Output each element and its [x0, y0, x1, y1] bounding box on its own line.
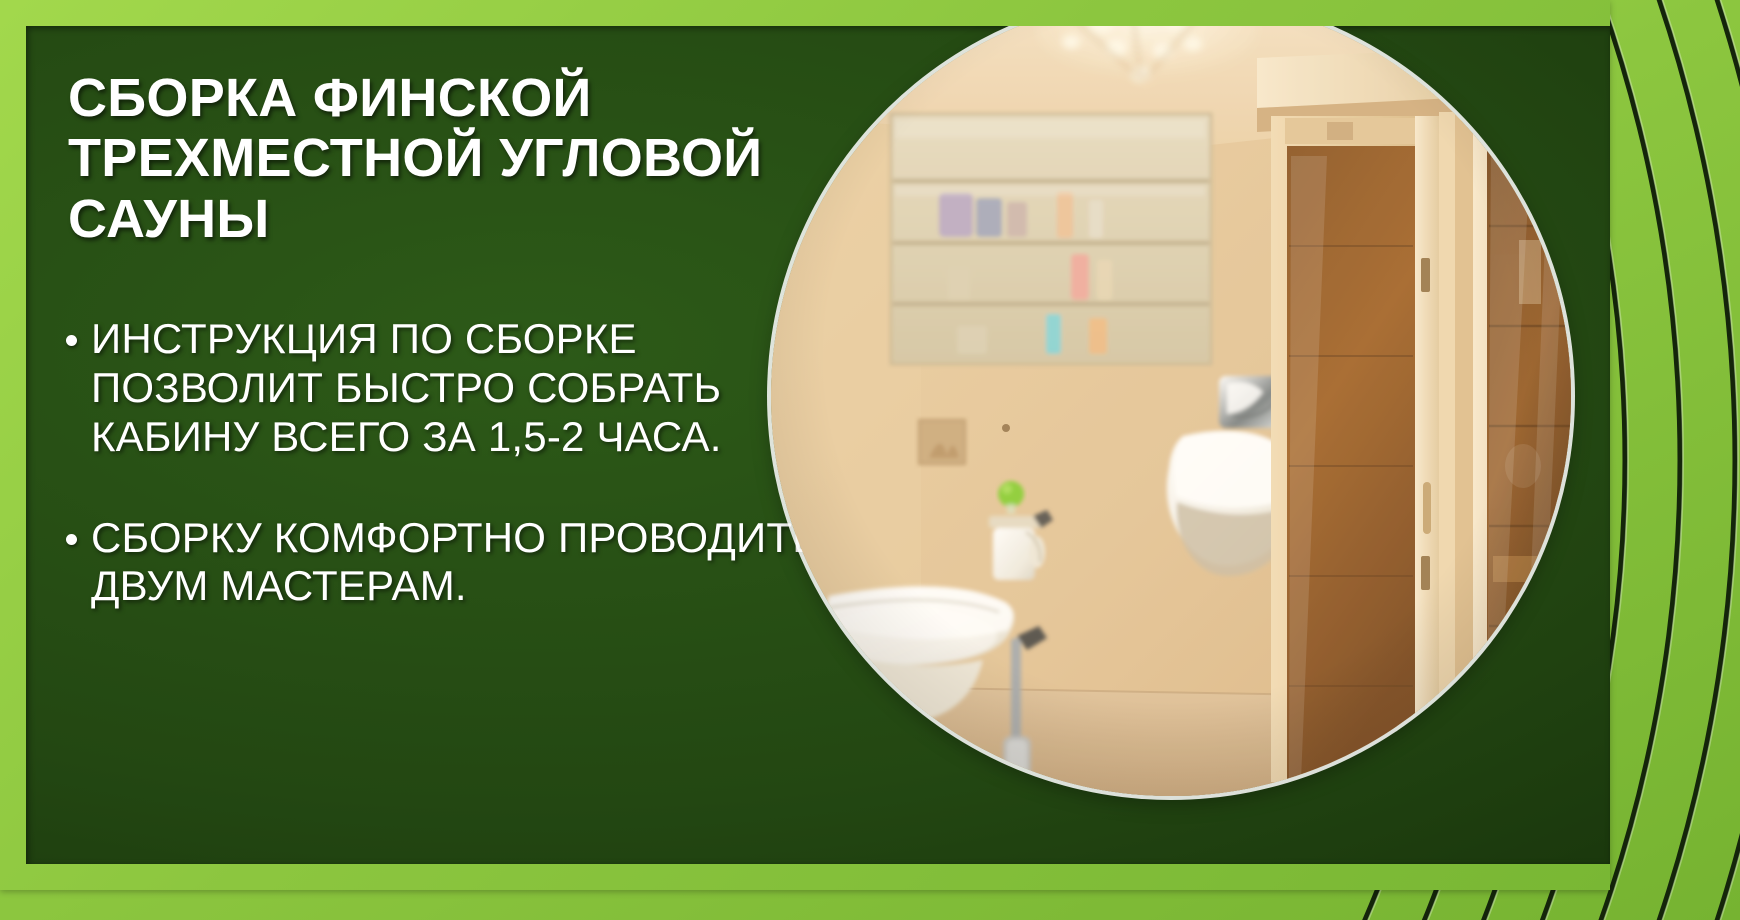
- slide-headline: СБОРКА ФИНСКОЙ ТРЕХМЕСТНОЙ УГЛОВОЙ САУНЫ: [68, 68, 826, 249]
- photo-illustration-svg: [771, 26, 1571, 796]
- bullet-dot-icon: [66, 534, 77, 545]
- bullet-item: ИНСТРУКЦИЯ ПО СБОРКЕ ПОЗВОЛИТ БЫСТРО СОБ…: [66, 315, 826, 461]
- slide-content-panel: СБОРКА ФИНСКОЙ ТРЕХМЕСТНОЙ УГЛОВОЙ САУНЫ…: [26, 26, 1610, 864]
- slide-canvas: СБОРКА ФИНСКОЙ ТРЕХМЕСТНОЙ УГЛОВОЙ САУНЫ…: [0, 0, 1740, 920]
- sauna-bathroom-photo: [771, 26, 1571, 796]
- text-column: СБОРКА ФИНСКОЙ ТРЕХМЕСТНОЙ УГЛОВОЙ САУНЫ…: [66, 68, 826, 663]
- bullet-dot-icon: [66, 335, 77, 346]
- bullet-item-text: ИНСТРУКЦИЯ ПО СБОРКЕ ПОЗВОЛИТ БЫСТРО СОБ…: [91, 315, 826, 461]
- slide-frame: СБОРКА ФИНСКОЙ ТРЕХМЕСТНОЙ УГЛОВОЙ САУНЫ…: [0, 0, 1610, 890]
- bullet-list: ИНСТРУКЦИЯ ПО СБОРКЕ ПОЗВОЛИТ БЫСТРО СОБ…: [66, 315, 826, 611]
- bullet-item: СБОРКУ КОМФОРТНО ПРОВОДИТЬ ДВУМ МАСТЕРАМ…: [66, 514, 826, 611]
- bullet-item-text: СБОРКУ КОМФОРТНО ПРОВОДИТЬ ДВУМ МАСТЕРАМ…: [91, 514, 826, 611]
